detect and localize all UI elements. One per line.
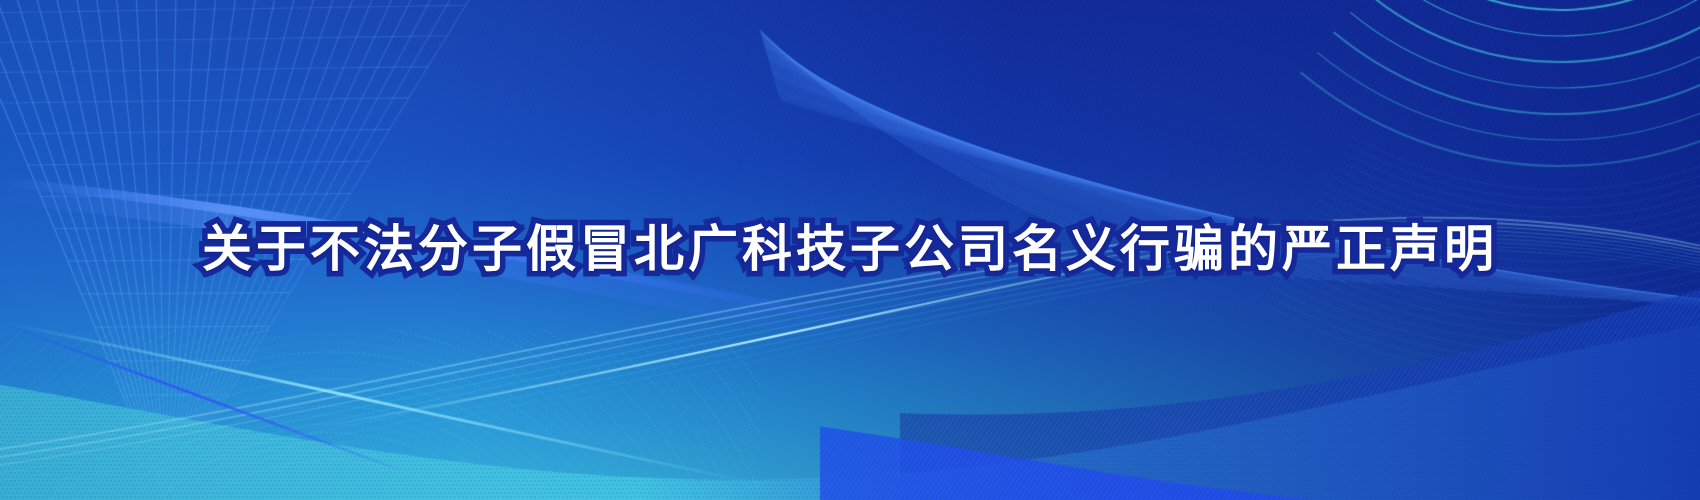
banner-background-artwork xyxy=(0,0,1700,500)
announcement-banner: 关于不法分子假冒北广科技子公司名义行骗的严正声明 关于不法分子假冒北广科技子公司… xyxy=(0,0,1700,500)
